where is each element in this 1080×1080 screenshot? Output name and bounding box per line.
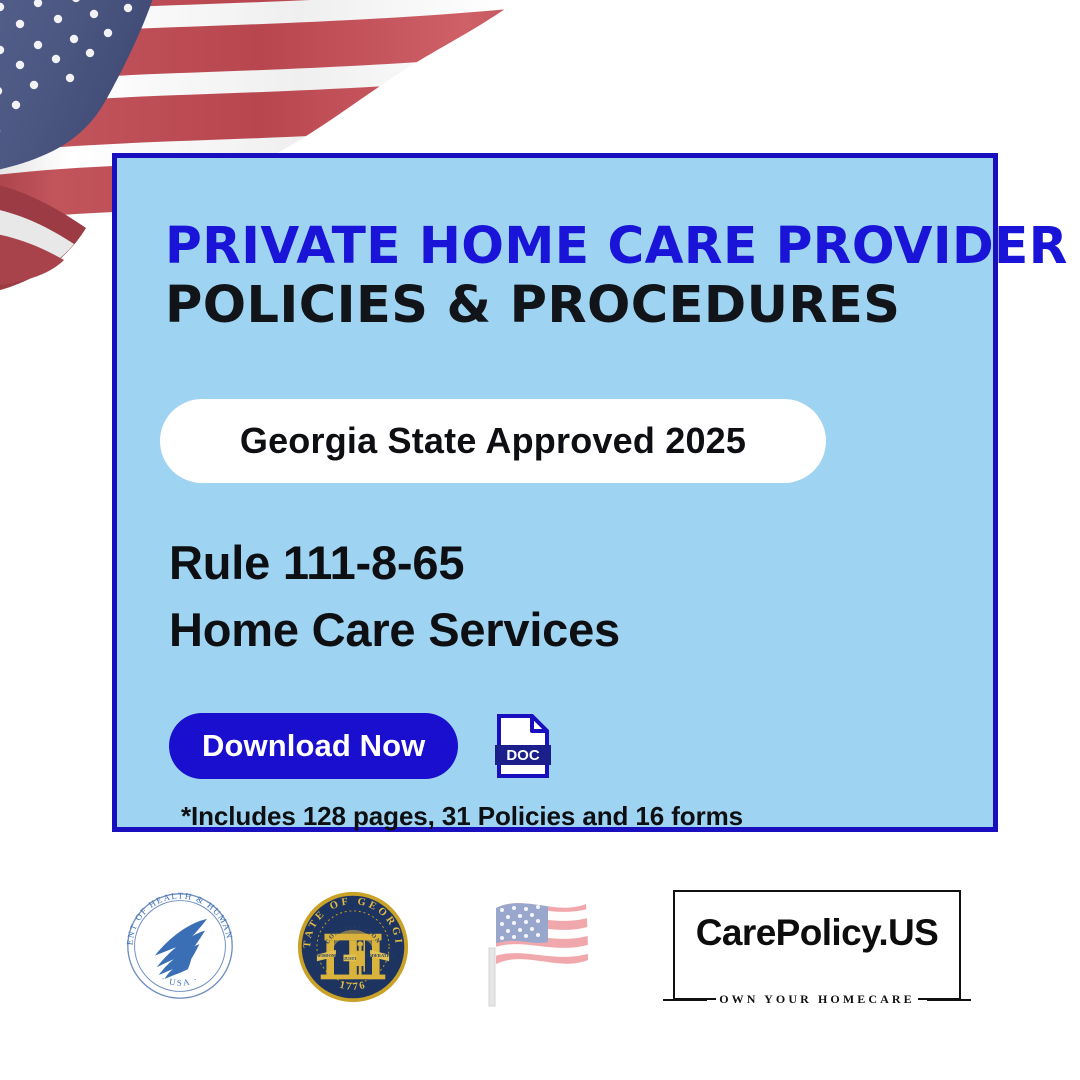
tagline-rule-right	[927, 999, 971, 1001]
cta-row: Download Now DOC	[169, 713, 552, 779]
headline-line-2: POLICIES & PROCEDURES	[165, 278, 985, 334]
download-now-button[interactable]: Download Now	[169, 713, 458, 779]
rule-number: Rule 111-8-65	[169, 530, 620, 597]
brand-tagline: OWN YOUR HOMECARE	[716, 992, 918, 1007]
ga-pillar-right: MODERATION	[364, 953, 396, 958]
approval-badge: Georgia State Approved 2025	[160, 399, 826, 483]
rule-title: Home Care Services	[169, 597, 620, 664]
approval-badge-label: Georgia State Approved 2025	[240, 420, 746, 462]
tagline-rule-left	[663, 999, 707, 1001]
us-flag-on-pole-icon	[480, 882, 600, 1008]
state-of-georgia-seal-icon: STATE OF GEORGIA 1776 CONSTITUTION WISDO…	[296, 890, 410, 1004]
headline-line-1: PRIVATE HOME CARE PROVIDER	[165, 220, 973, 274]
doc-file-icon[interactable]: DOC	[494, 713, 552, 779]
footnote-text: *Includes 128 pages, 31 Policies and 16 …	[181, 801, 743, 832]
promo-card: PRIVATE HOME CARE PROVIDER POLICIES & PR…	[112, 153, 998, 832]
brand-name: CarePolicy.US	[675, 912, 959, 954]
doc-icon-label: DOC	[507, 747, 541, 764]
brand-tagline-row: OWN YOUR HOMECARE	[675, 992, 959, 1007]
rule-block: Rule 111-8-65 Home Care Services	[169, 530, 620, 663]
hhs-seal-icon: DEPARTMENT OF HEALTH & HUMAN SERVICES · …	[122, 888, 238, 1004]
headline-block: PRIVATE HOME CARE PROVIDER POLICIES & PR…	[165, 220, 985, 334]
footer-logo-row: DEPARTMENT OF HEALTH & HUMAN SERVICES · …	[0, 872, 1080, 1022]
brand-logo: CarePolicy.US OWN YOUR HOMECARE	[673, 890, 961, 1000]
ga-pillar-left: WISDOM	[317, 953, 336, 958]
